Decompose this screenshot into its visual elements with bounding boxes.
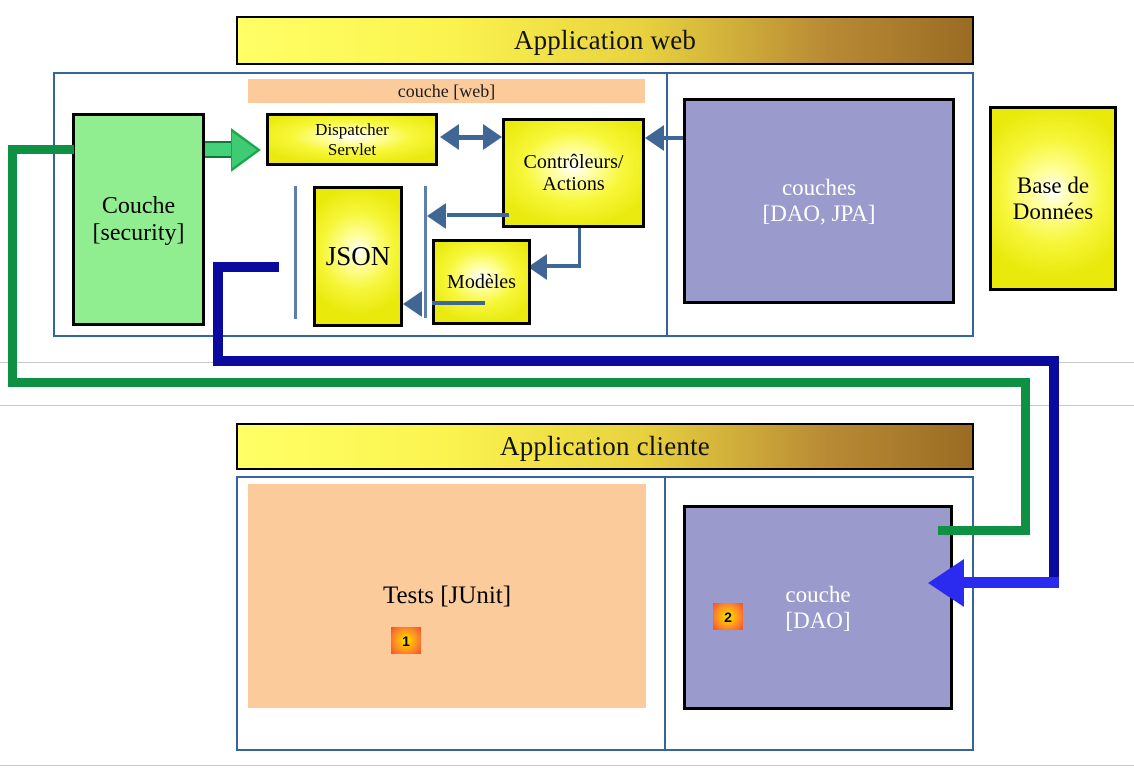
models-to-json-link [432,301,485,305]
blue-route-horizontal [213,356,1059,366]
couches-dao-jpa-line1: couches [782,175,856,201]
couche-dao-badge: 2 [713,603,743,630]
green-route-left-vertical [8,145,17,387]
application-cliente-banner: Application cliente [236,423,974,470]
couche-security-line2: [security] [93,220,185,247]
dao-to-controllers-arrow-icon [645,125,664,151]
tests-junit-box[interactable]: Tests [JUnit] [248,484,646,708]
couche-web-strip: couche [web] [248,79,645,103]
couche-security-line1: Couche [102,193,175,220]
couche-web-label: couche [web] [398,81,495,102]
dispatcher-controllers-arrow-right-icon [483,124,502,150]
blue-route-into-dao-arrow-icon [928,559,964,607]
tests-junit-badge-number: 1 [402,633,410,649]
controllers-to-models-vertical [578,228,581,267]
couche-dao-line2: [DAO] [785,608,850,634]
base-de-donnees-line2: Données [1013,199,1093,225]
json-left-separator [294,186,297,319]
application-cliente-title: Application cliente [500,431,710,462]
green-route-right-vertical [1021,378,1030,534]
base-de-donnees-line1: Base de [1017,173,1089,199]
modeles-box[interactable]: Modèles [432,239,531,325]
application-web-title: Application web [514,25,696,56]
json-label: JSON [326,241,391,271]
controleurs-actions-box[interactable]: Contrôleurs/ Actions [502,118,645,228]
tests-junit-label: Tests [JUnit] [383,582,511,610]
dispatcher-servlet-line1: Dispatcher [315,120,389,139]
green-route-from-security [8,145,74,154]
couche-dao-badge-number: 2 [724,609,732,625]
couche-security-box[interactable]: Couche [security] [72,113,205,326]
controllers-to-json-arrow-icon [427,203,446,229]
models-to-json-arrow-icon [403,291,422,317]
page-rule-bottom [0,765,1134,766]
dispatcher-servlet-line2: Servlet [328,140,376,159]
application-web-banner: Application web [236,16,974,65]
blue-route-into-dao-shaft [960,577,1059,588]
blue-route-left-vertical [213,262,223,366]
diagram-canvas: Application web couche [web] Couche [sec… [0,0,1134,781]
controllers-to-json-link [447,213,509,217]
blue-route-right-vertical [1049,356,1059,583]
client-panel-divider [664,476,666,751]
controleurs-actions-line1: Contrôleurs/ [524,151,624,173]
dispatcher-controllers-arrow-left-icon [440,124,459,150]
controleurs-actions-line2: Actions [542,173,604,195]
base-de-donnees-box[interactable]: Base de Données [989,106,1117,291]
couches-dao-jpa-line2: [DAO, JPA] [763,201,876,227]
dispatcher-servlet-box[interactable]: Dispatcher Servlet [266,113,438,166]
web-panel-divider [666,72,668,337]
green-route-into-dao [938,526,1030,535]
green-route-bottom-horizontal [8,378,1030,387]
controllers-to-models-horizontal [546,264,581,268]
json-box[interactable]: JSON [313,186,403,327]
couches-dao-jpa-box[interactable]: couches [DAO, JPA] [683,98,955,304]
tests-junit-badge: 1 [391,627,421,654]
couche-dao-line1: couche [785,582,850,608]
security-to-dispatcher-arrow-head-inner [232,132,257,168]
modeles-label: Modèles [447,271,516,293]
page-rule-mid [0,405,1134,406]
